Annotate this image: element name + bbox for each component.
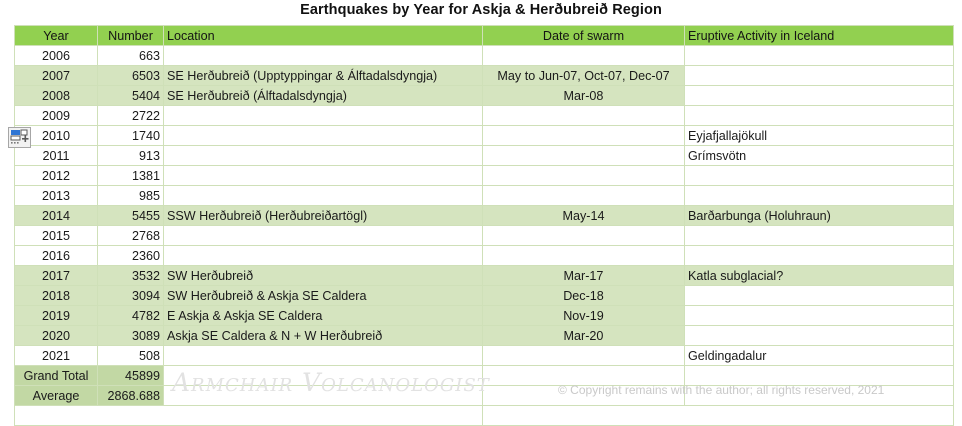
cell-location[interactable]: SE Herðubreið (Upptyppingar & Álftadalsd…: [164, 66, 483, 86]
column-header-number[interactable]: Number: [98, 26, 164, 46]
cell-location[interactable]: [164, 346, 483, 366]
cell-location[interactable]: [164, 246, 483, 266]
cell-number[interactable]: 2868.688: [98, 386, 164, 406]
cell-number[interactable]: 5404: [98, 86, 164, 106]
cell-location[interactable]: [164, 226, 483, 246]
cell-year[interactable]: 2008: [15, 86, 98, 106]
cell-eruptive[interactable]: Grímsvötn: [685, 146, 954, 166]
cell-date[interactable]: May to Jun-07, Oct-07, Dec-07: [483, 66, 685, 86]
table-row: 20183094SW Herðubreið & Askja SE Caldera…: [15, 286, 954, 306]
table-row: 2011913Grímsvötn: [15, 146, 954, 166]
cell-number[interactable]: 3532: [98, 266, 164, 286]
cell-year[interactable]: 2013: [15, 186, 98, 206]
cell-eruptive[interactable]: Geldingadalur: [685, 346, 954, 366]
cell-date[interactable]: [483, 146, 685, 166]
cell-eruptive[interactable]: Eyjafjallajökull: [685, 126, 954, 146]
cell-number[interactable]: 45899: [98, 366, 164, 386]
cell-number[interactable]: 6503: [98, 66, 164, 86]
cell-location[interactable]: SW Herðubreið & Askja SE Caldera: [164, 286, 483, 306]
column-header-eruptive-activity-in-iceland[interactable]: Eruptive Activity in Iceland: [685, 26, 954, 46]
cell-year[interactable]: Average: [15, 386, 98, 406]
cell-eruptive[interactable]: [685, 366, 954, 386]
cell-date[interactable]: Mar-17: [483, 266, 685, 286]
cell-number[interactable]: 663: [98, 46, 164, 66]
table-row: 20092722: [15, 106, 954, 126]
cell-location[interactable]: [164, 106, 483, 126]
cell-year[interactable]: 2014: [15, 206, 98, 226]
table-row: 20121381: [15, 166, 954, 186]
cell-number[interactable]: 4782: [98, 306, 164, 326]
cell-location[interactable]: [164, 126, 483, 146]
cell-date[interactable]: [483, 366, 685, 386]
cell-date[interactable]: [483, 226, 685, 246]
cell-location[interactable]: Askja SE Caldera & N + W Herðubreið: [164, 326, 483, 346]
cell-eruptive[interactable]: [685, 286, 954, 306]
cell-eruptive[interactable]: [685, 326, 954, 346]
cell-date[interactable]: [483, 46, 685, 66]
cell-date[interactable]: [483, 346, 685, 366]
cell-date[interactable]: Nov-19: [483, 306, 685, 326]
cell-number[interactable]: 3089: [98, 326, 164, 346]
cell-eruptive[interactable]: [685, 66, 954, 86]
cell-location[interactable]: SSW Herðubreið (Herðubreiðartögl): [164, 206, 483, 226]
cell-number[interactable]: 5455: [98, 206, 164, 226]
cell-year[interactable]: 2009: [15, 106, 98, 126]
quick-analysis-icon[interactable]: [8, 127, 31, 148]
cell-number[interactable]: 508: [98, 346, 164, 366]
cell-number[interactable]: 1381: [98, 166, 164, 186]
table-row: 20152768: [15, 226, 954, 246]
cell-year[interactable]: 2021: [15, 346, 98, 366]
table-row: 20101740Eyjafjallajökull: [15, 126, 954, 146]
cell-year[interactable]: 2019: [15, 306, 98, 326]
cell-year[interactable]: 2007: [15, 66, 98, 86]
cell-location[interactable]: SE Herðubreið (Álftadalsdyngja): [164, 86, 483, 106]
cell-year[interactable]: 2020: [15, 326, 98, 346]
column-header-date-of-swarm[interactable]: Date of swarm: [483, 26, 685, 46]
cell-year[interactable]: Grand Total: [15, 366, 98, 386]
table-row: 2021508Geldingadalur: [15, 346, 954, 366]
table-row: 20203089Askja SE Caldera & N + W Herðubr…: [15, 326, 954, 346]
cell-eruptive[interactable]: [685, 186, 954, 206]
cell-location[interactable]: [164, 366, 483, 386]
cell-date[interactable]: May-14: [483, 206, 685, 226]
table-row: 2013985: [15, 186, 954, 206]
cell-eruptive[interactable]: [685, 86, 954, 106]
cell-number[interactable]: 3094: [98, 286, 164, 306]
cell-eruptive[interactable]: [685, 306, 954, 326]
cell-year[interactable]: 2015: [15, 226, 98, 246]
cell-number[interactable]: 985: [98, 186, 164, 206]
table-row: 2006663: [15, 46, 954, 66]
cell-year[interactable]: 2006: [15, 46, 98, 66]
cell-date[interactable]: [483, 126, 685, 146]
cell-location[interactable]: SW Herðubreið: [164, 266, 483, 286]
cell-number[interactable]: 913: [98, 146, 164, 166]
cell-eruptive[interactable]: Katla subglacial?: [685, 266, 954, 286]
cell-date[interactable]: Dec-18: [483, 286, 685, 306]
cell-eruptive[interactable]: [685, 166, 954, 186]
cell-location[interactable]: [164, 146, 483, 166]
column-header-year[interactable]: Year: [15, 26, 98, 46]
quick-analysis-glyph: [9, 128, 30, 147]
footer-watermark-cell: [15, 406, 483, 426]
cell-date[interactable]: [483, 186, 685, 206]
cell-date[interactable]: [483, 166, 685, 186]
cell-year[interactable]: 2011: [15, 146, 98, 166]
cell-date[interactable]: [483, 246, 685, 266]
footer-copyright-cell: [483, 406, 954, 426]
cell-location[interactable]: [164, 386, 483, 406]
cell-date[interactable]: Mar-08: [483, 86, 685, 106]
table-row: Average2868.688: [15, 386, 954, 406]
cell-location[interactable]: [164, 166, 483, 186]
cell-year[interactable]: 2012: [15, 166, 98, 186]
cell-date[interactable]: [483, 106, 685, 126]
cell-eruptive[interactable]: [685, 246, 954, 266]
cell-date[interactable]: Mar-20: [483, 326, 685, 346]
table-row: 20194782E Askja & Askja SE CalderaNov-19: [15, 306, 954, 326]
cell-location[interactable]: E Askja & Askja SE Caldera: [164, 306, 483, 326]
cell-eruptive[interactable]: [685, 386, 954, 406]
cell-date[interactable]: [483, 386, 685, 406]
cell-eruptive[interactable]: Barðarbunga (Holuhraun): [685, 206, 954, 226]
cell-location[interactable]: [164, 46, 483, 66]
earthquake-table: YearNumberLocationDate of swarmEruptive …: [14, 25, 954, 426]
cell-year[interactable]: 2017: [15, 266, 98, 286]
cell-number[interactable]: 2722: [98, 106, 164, 126]
table-row: 20145455SSW Herðubreið (Herðubreiðartögl…: [15, 206, 954, 226]
footer-band: [15, 406, 954, 426]
cell-year[interactable]: 2018: [15, 286, 98, 306]
cell-eruptive[interactable]: [685, 106, 954, 126]
cell-number[interactable]: 2360: [98, 246, 164, 266]
cell-eruptive[interactable]: [685, 226, 954, 246]
table-header-row: YearNumberLocationDate of swarmEruptive …: [15, 26, 954, 46]
cell-year[interactable]: 2016: [15, 246, 98, 266]
cell-number[interactable]: 2768: [98, 226, 164, 246]
cell-location[interactable]: [164, 186, 483, 206]
cell-number[interactable]: 1740: [98, 126, 164, 146]
page-title: Earthquakes by Year for Askja & Herðubre…: [0, 2, 962, 18]
table-row: 20076503SE Herðubreið (Upptyppingar & Ál…: [15, 66, 954, 86]
cell-eruptive[interactable]: [685, 46, 954, 66]
table-row: 20162360: [15, 246, 954, 266]
column-header-location[interactable]: Location: [164, 26, 483, 46]
table-row: 20173532SW HerðubreiðMar-17Katla subglac…: [15, 266, 954, 286]
table-row: 20085404SE Herðubreið (Álftadalsdyngja)M…: [15, 86, 954, 106]
table-row: Grand Total45899: [15, 366, 954, 386]
